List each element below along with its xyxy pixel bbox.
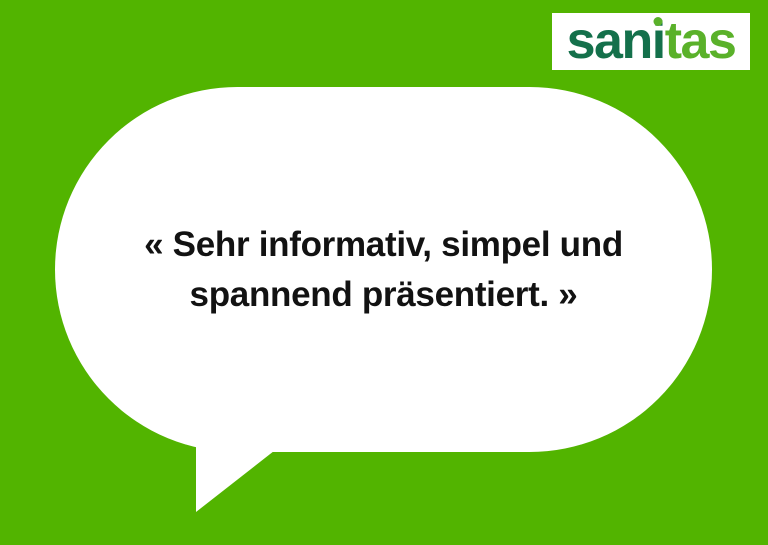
wordmark-part-san: san <box>567 12 652 70</box>
wordmark-part-tas: tas <box>665 12 736 70</box>
testimonial-quote: « Sehr informativ, simpel und spannend p… <box>55 87 712 452</box>
sanitas-logo: sanitas <box>552 13 750 70</box>
wordmark-i-dot-icon <box>654 17 663 26</box>
wordmark-part-i: i <box>652 15 665 67</box>
sanitas-wordmark: sanitas <box>567 15 736 67</box>
slide-canvas: « Sehr informativ, simpel und spannend p… <box>0 0 768 545</box>
quote-line-1: « Sehr informativ, simpel und <box>144 220 623 270</box>
quote-line-2: spannend präsentiert. » <box>190 270 578 320</box>
